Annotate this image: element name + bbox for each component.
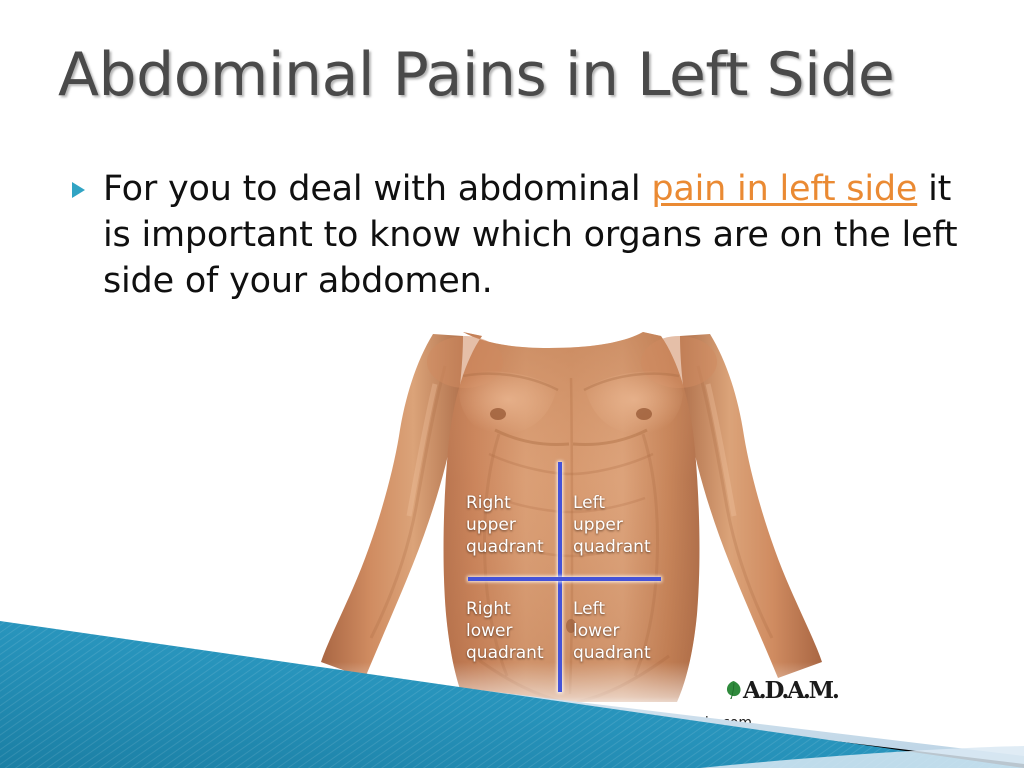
- adam-watermark: A.D.A.M.: [725, 676, 829, 704]
- abdominal-quadrants-figure: Right upper quadrant Left upper quadrant…: [313, 326, 830, 712]
- copyright-line-1: Copyright 2012 www.hlpain.com: [420, 714, 752, 733]
- slide-canvas: Abdominal Pains in Left Side For you to …: [0, 0, 1024, 768]
- adam-leaf-icon: [725, 680, 742, 700]
- list-item: For you to deal with abdominal pain in l…: [70, 166, 960, 304]
- adam-wordmark: A.D.A.M.: [743, 679, 838, 702]
- paragraph-lead-text: For you to deal with abdominal: [103, 169, 651, 209]
- page-title: Abdominal Pains in Left Side: [58, 44, 968, 107]
- body-content: For you to deal with abdominal pain in l…: [70, 166, 960, 304]
- copyright-notice: Copyright 2012 www.hlpain.com and www.lo…: [420, 714, 752, 752]
- triangle-right-bullet-icon: [70, 166, 103, 200]
- quadrant-horizontal-line: [468, 577, 661, 581]
- male-torso-illustration: [313, 326, 830, 712]
- pain-in-left-side-link[interactable]: pain in left side: [651, 169, 917, 209]
- copyright-line-2: and www.losp.org: [420, 733, 752, 752]
- bullet-paragraph: For you to deal with abdominal pain in l…: [103, 166, 960, 304]
